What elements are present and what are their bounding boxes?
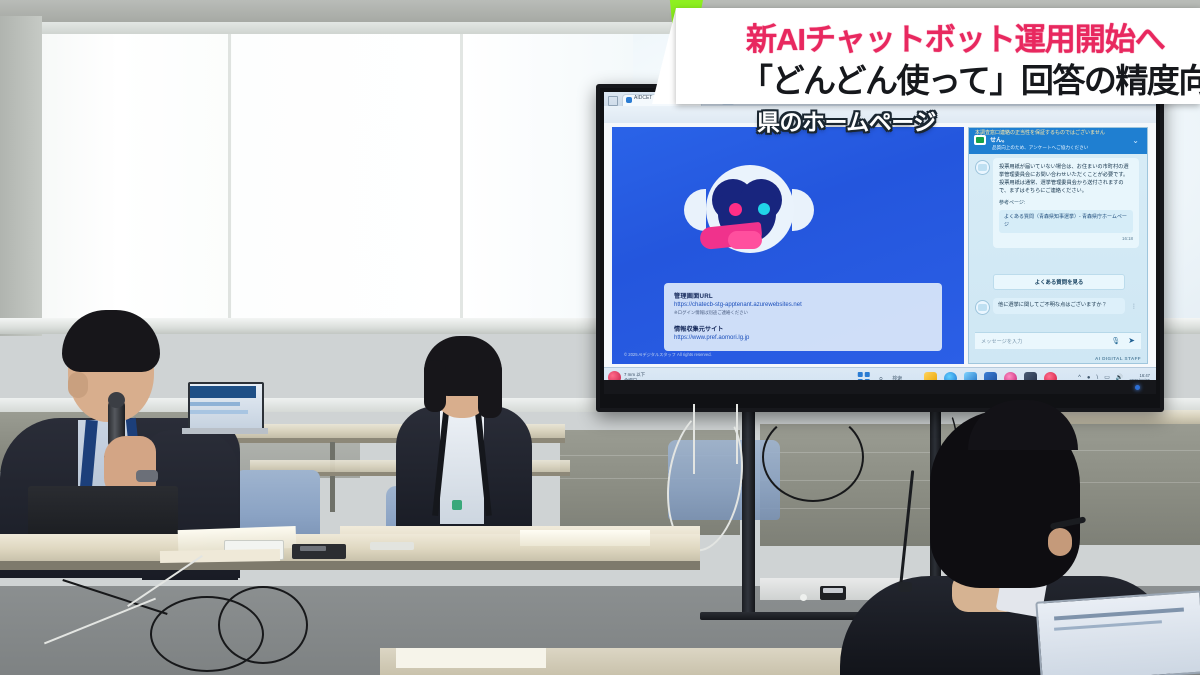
remote-buttons (823, 588, 843, 593)
chat-survey-banner: 本調査窓口連絡の正当性を保証するものではございません せん。 品質向上のため、ア… (969, 128, 1147, 154)
chat-message-followup: 他に選挙に関してご不明な点はございますか？ ⋮ (975, 298, 1139, 314)
mascot-scarf-tail (728, 231, 762, 249)
source-site-link[interactable]: https://www.pref.aomori.lg.jp (674, 335, 932, 341)
chat-panel: 本調査窓口連絡の正当性を保証するものではございません せん。 品質向上のため、ア… (968, 127, 1148, 364)
reference-link[interactable]: よくある質問（青森県知事選挙）- 青森県庁ホームページ (999, 210, 1133, 233)
composer-icons: 🎙 ➤ (1111, 337, 1135, 345)
hair-side (424, 360, 446, 412)
window-control-icon[interactable] (608, 96, 618, 106)
window-mullion (228, 26, 231, 326)
survey-badge-icon (974, 135, 986, 145)
papers-foreground (396, 648, 546, 668)
laptop-screen-content (190, 402, 240, 406)
bot-message-bubble: 投票用紙が届いていない場合は、お住まいの市町村の選挙管理委員会にお問い合わせいた… (993, 158, 1139, 248)
screenshot-root: AIDCET × ⟳ ⌂ https://chatecb-stg-apptena… (0, 0, 1200, 675)
reference-label: 参考ページ: (999, 200, 1133, 208)
monitor-bezel-chin (604, 380, 1156, 394)
hair-side (478, 360, 502, 418)
laptop-screen-content (190, 410, 248, 414)
cable-white (736, 404, 738, 464)
cable-black (762, 412, 864, 502)
headline-line-1: 新AIチャットボット運用開始へ (746, 14, 1165, 59)
microphone-icon[interactable]: 🎙 (1111, 338, 1120, 345)
web-page: 管理画面URL https://chatecb-stg-apptenant.az… (604, 123, 1156, 368)
wall-left (0, 16, 42, 336)
chatbot-landing-panel: 管理画面URL https://chatecb-stg-apptenant.az… (612, 127, 964, 364)
weather-line-1: 7 mm 以下 (624, 372, 645, 378)
banner-title: せん。 (990, 135, 1008, 144)
microphone-base (898, 582, 912, 592)
mascot-eye-left (729, 203, 742, 216)
copyright-text: © 2025 AIデジタルスタッフ All rights reserved. (624, 352, 712, 358)
chat-brand-label: AI DIGITAL STAFF (1095, 356, 1141, 361)
ear (1048, 528, 1072, 556)
mascot-eye-right (758, 203, 770, 215)
ear (68, 372, 88, 398)
faq-button[interactable]: よくある質問を見る (993, 274, 1125, 290)
floor-cable-loop (218, 586, 308, 664)
chatbot-mascot-icon (684, 165, 814, 269)
send-icon[interactable]: ➤ (1128, 337, 1135, 345)
laptop-base-back (182, 428, 268, 434)
admin-url-link[interactable]: https://chatecb-stg-apptenant.azurewebsi… (674, 302, 932, 308)
bot-avatar-icon (975, 160, 990, 175)
device-detail (300, 546, 326, 551)
caption-overlay: 県のホームページ (757, 103, 936, 137)
papers (160, 549, 280, 563)
message-input[interactable]: メッセージを入力 (981, 338, 1022, 345)
laptop-foreground (1035, 590, 1200, 675)
url-info-card: 管理画面URL https://chatecb-stg-apptenant.az… (664, 283, 942, 351)
monitor-power-led (1135, 385, 1140, 390)
desk-item (800, 594, 807, 601)
bot-answer-text: 投票用紙が届いていない場合は、お住まいの市町村の選挙管理委員会にお問い合わせいた… (999, 163, 1133, 195)
mascot-ear-right (792, 189, 814, 231)
headline-line-2: 「どんどん使って」回答の精度向上 (740, 54, 1200, 102)
chat-message-bot: 投票用紙が届いていない場合は、お住まいの市町村の選挙管理委員会にお問い合わせいた… (975, 158, 1139, 248)
microphone-head (108, 392, 125, 408)
papers (520, 530, 650, 546)
source-site-label: 情報収集元サイト (674, 324, 932, 333)
admin-url-note: ※ログイン情報は別途ご連絡ください (674, 310, 932, 316)
monitor-screen: AIDCET × ⟳ ⌂ https://chatecb-stg-apptena… (604, 92, 1156, 394)
window-blind-middle (232, 30, 463, 326)
mascot-ear-left (684, 189, 706, 231)
desk-item (370, 542, 414, 550)
message-timestamp: 16:18 (999, 236, 1133, 243)
admin-url-label: 管理画面URL (674, 291, 932, 300)
window-mullion (460, 26, 463, 326)
banner-subtitle: 品質向上のため、アンケートへご協力ください (992, 145, 1088, 151)
window-blind-left (40, 34, 233, 324)
tab-favicon-icon (626, 97, 632, 103)
monitor-stand-post (742, 404, 755, 619)
front-table-edge (0, 561, 700, 570)
badge (452, 500, 462, 510)
desk-leg (330, 442, 335, 512)
bot-avatar-icon (975, 300, 990, 315)
followup-bubble: 他に選挙に関してご不明な点はございますか？ (993, 298, 1125, 314)
message-composer[interactable]: メッセージを入力 🎙 ➤ (975, 332, 1141, 349)
chevron-down-icon[interactable]: ⌄ (1132, 137, 1139, 145)
laptop-screen-content (190, 386, 256, 398)
more-options-icon[interactable]: ⋮ (1131, 304, 1137, 310)
wristwatch (136, 470, 158, 482)
cable-white (693, 404, 695, 474)
